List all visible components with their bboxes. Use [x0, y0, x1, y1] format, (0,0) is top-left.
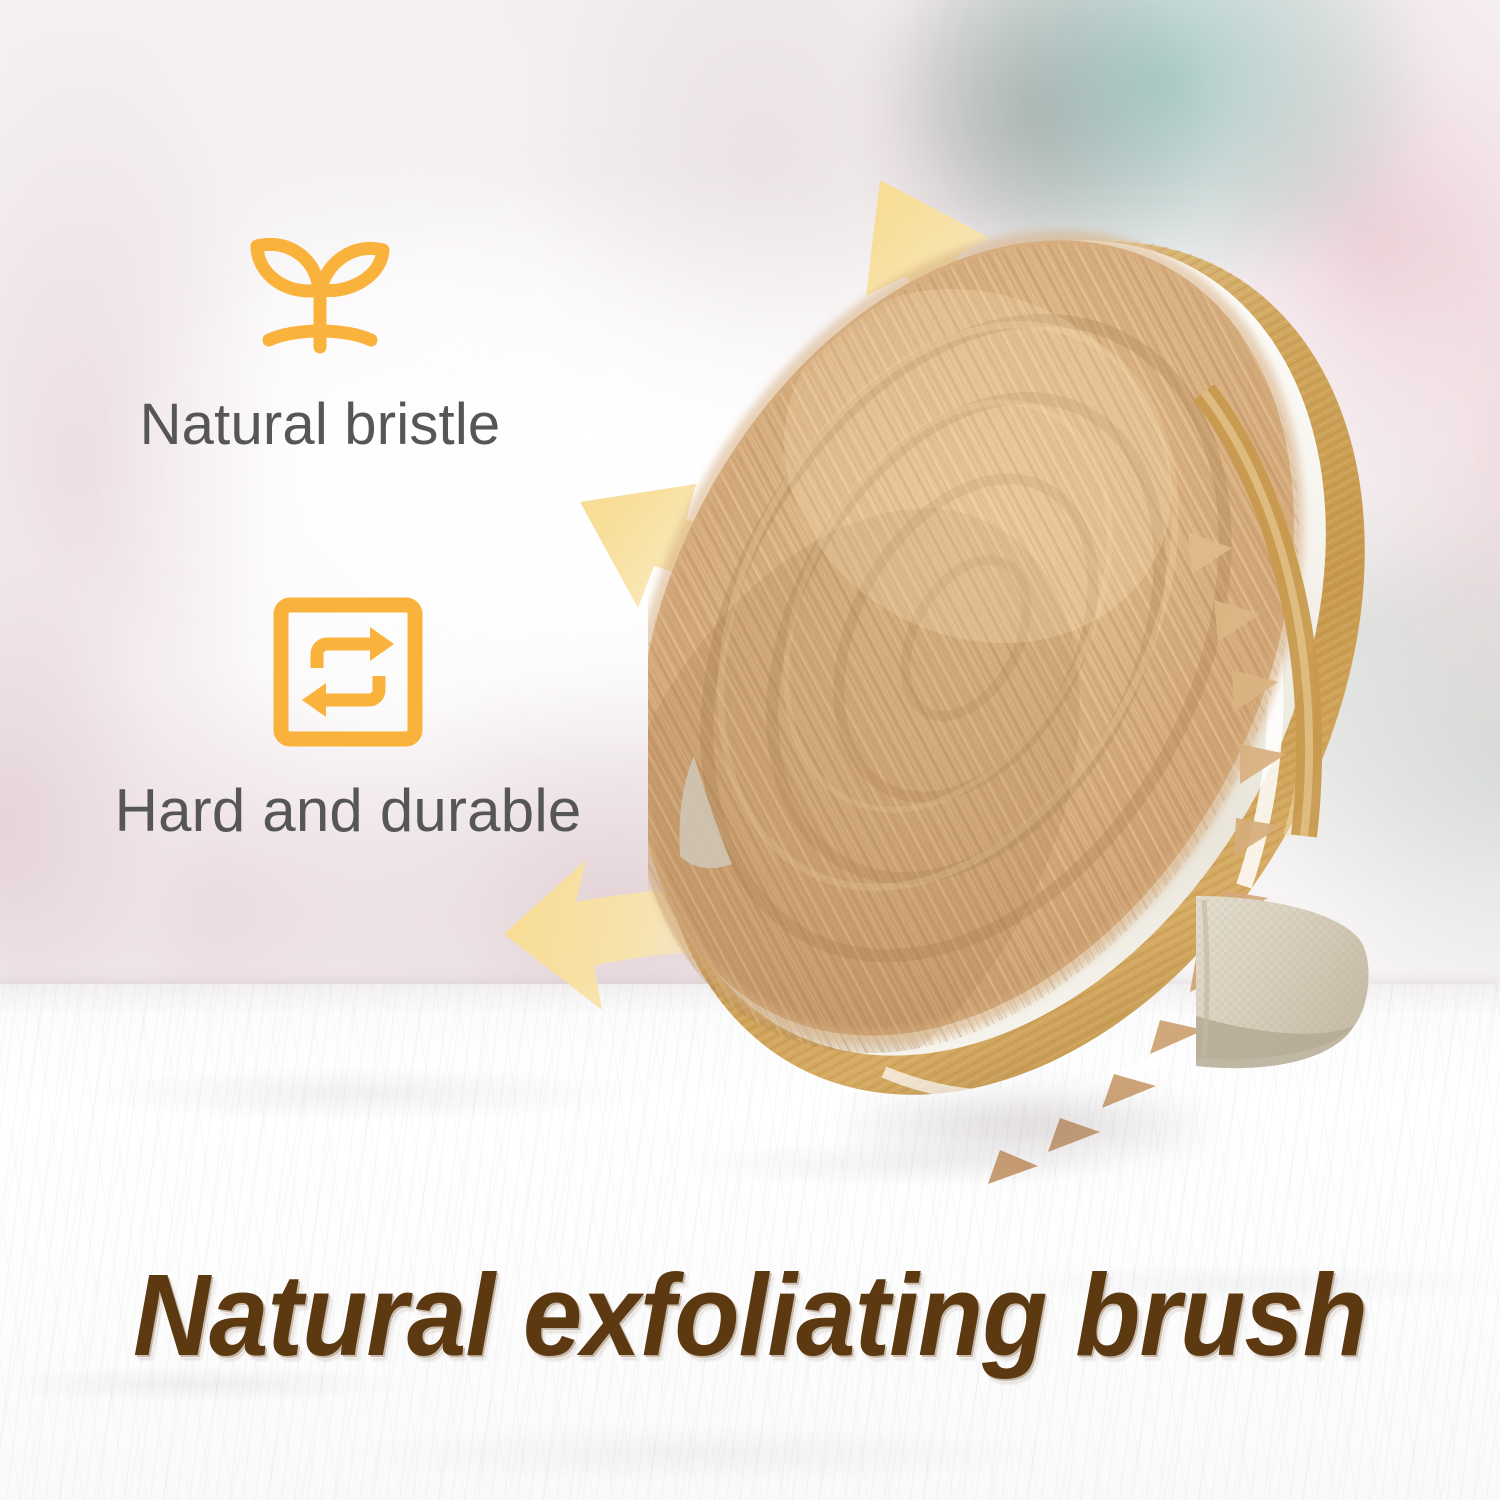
dry-body-brush: [648, 196, 1378, 1256]
recycle-loop-icon: [272, 596, 424, 753]
product-feature-image: Natural bristle Hard and durable: [0, 0, 1500, 1500]
page-title: Natural exfoliating brush: [60, 1248, 1440, 1382]
sprout-icon: [235, 216, 405, 371]
feature-label: Natural bristle: [140, 395, 501, 456]
feature-natural-bristle: Natural bristle: [60, 216, 580, 456]
feature-hard-and-durable: Hard and durable: [18, 596, 678, 842]
product-shadow: [768, 1066, 1288, 1186]
brush-hand-strap: [1196, 896, 1369, 1068]
feature-label: Hard and durable: [115, 779, 582, 842]
